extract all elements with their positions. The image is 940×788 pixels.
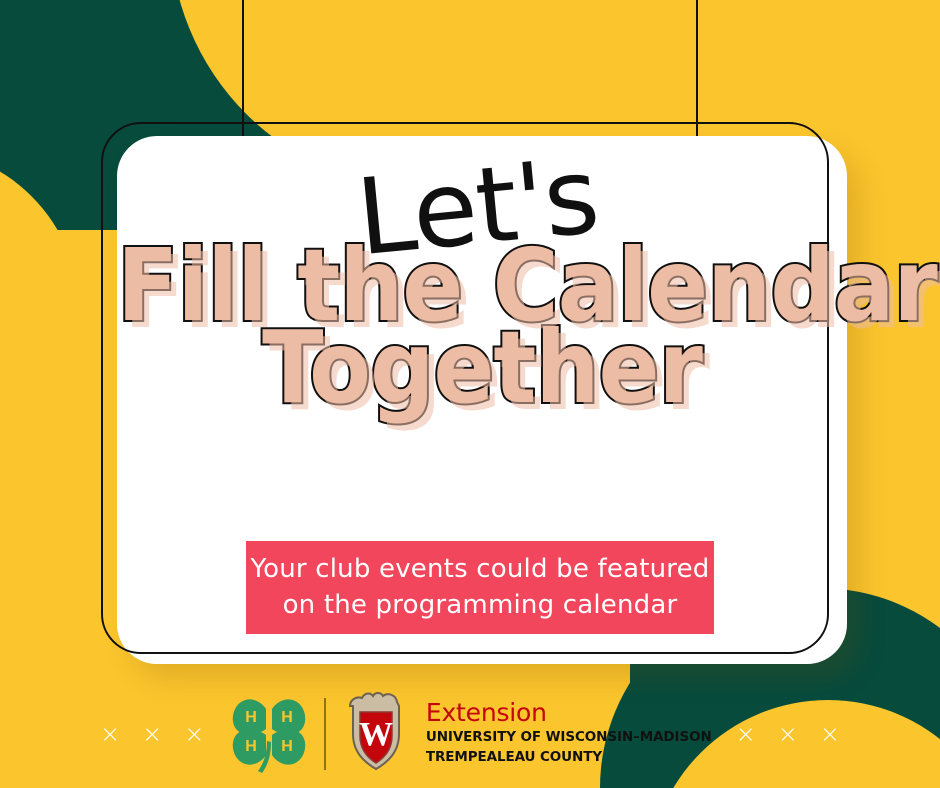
- extension-wordmark: Extension UNIVERSITY OF WISCONSIN–MADISO…: [426, 700, 712, 767]
- svg-text:H: H: [282, 738, 294, 755]
- svg-text:W: W: [359, 716, 393, 753]
- svg-text:H: H: [246, 709, 258, 726]
- x-icon: ×: [142, 722, 162, 746]
- svg-text:H: H: [246, 738, 258, 755]
- logo-lockup: H H H H W Extension UNIVERSITY OF: [228, 689, 711, 780]
- x-icon: ×: [736, 722, 756, 746]
- x-icon: ×: [778, 722, 798, 746]
- extension-subtitle-line-1: UNIVERSITY OF WISCONSIN–MADISON: [426, 728, 712, 748]
- x-icon: ×: [100, 722, 120, 746]
- extension-subtitle-line-2: TREMPEALEAU COUNTY: [426, 748, 712, 768]
- footer-bar: × × ×: [0, 680, 940, 788]
- x-marks-left-group: × × ×: [100, 722, 204, 746]
- subtitle-line-2: on the programming calendar: [283, 588, 678, 624]
- poster-canvas: Let's Fill the Calendar Together Your cl…: [0, 0, 940, 788]
- subtitle-banner: Your club events could be featured on th…: [246, 541, 714, 634]
- four-h-clover-icon: H H H H: [228, 689, 310, 780]
- svg-text:H: H: [282, 709, 294, 726]
- subtitle-line-1: Your club events could be featured: [250, 552, 709, 588]
- x-icon: ×: [184, 722, 204, 746]
- extension-title: Extension: [426, 700, 712, 725]
- x-marks-right-group: × × ×: [736, 722, 840, 746]
- uw-crest-icon: W: [340, 690, 412, 779]
- headline-line-1: Fill the Calendar: [117, 238, 847, 334]
- headline-block: Let's Fill the Calendar Together: [117, 155, 847, 416]
- x-icon: ×: [820, 722, 840, 746]
- logo-divider: [324, 698, 326, 770]
